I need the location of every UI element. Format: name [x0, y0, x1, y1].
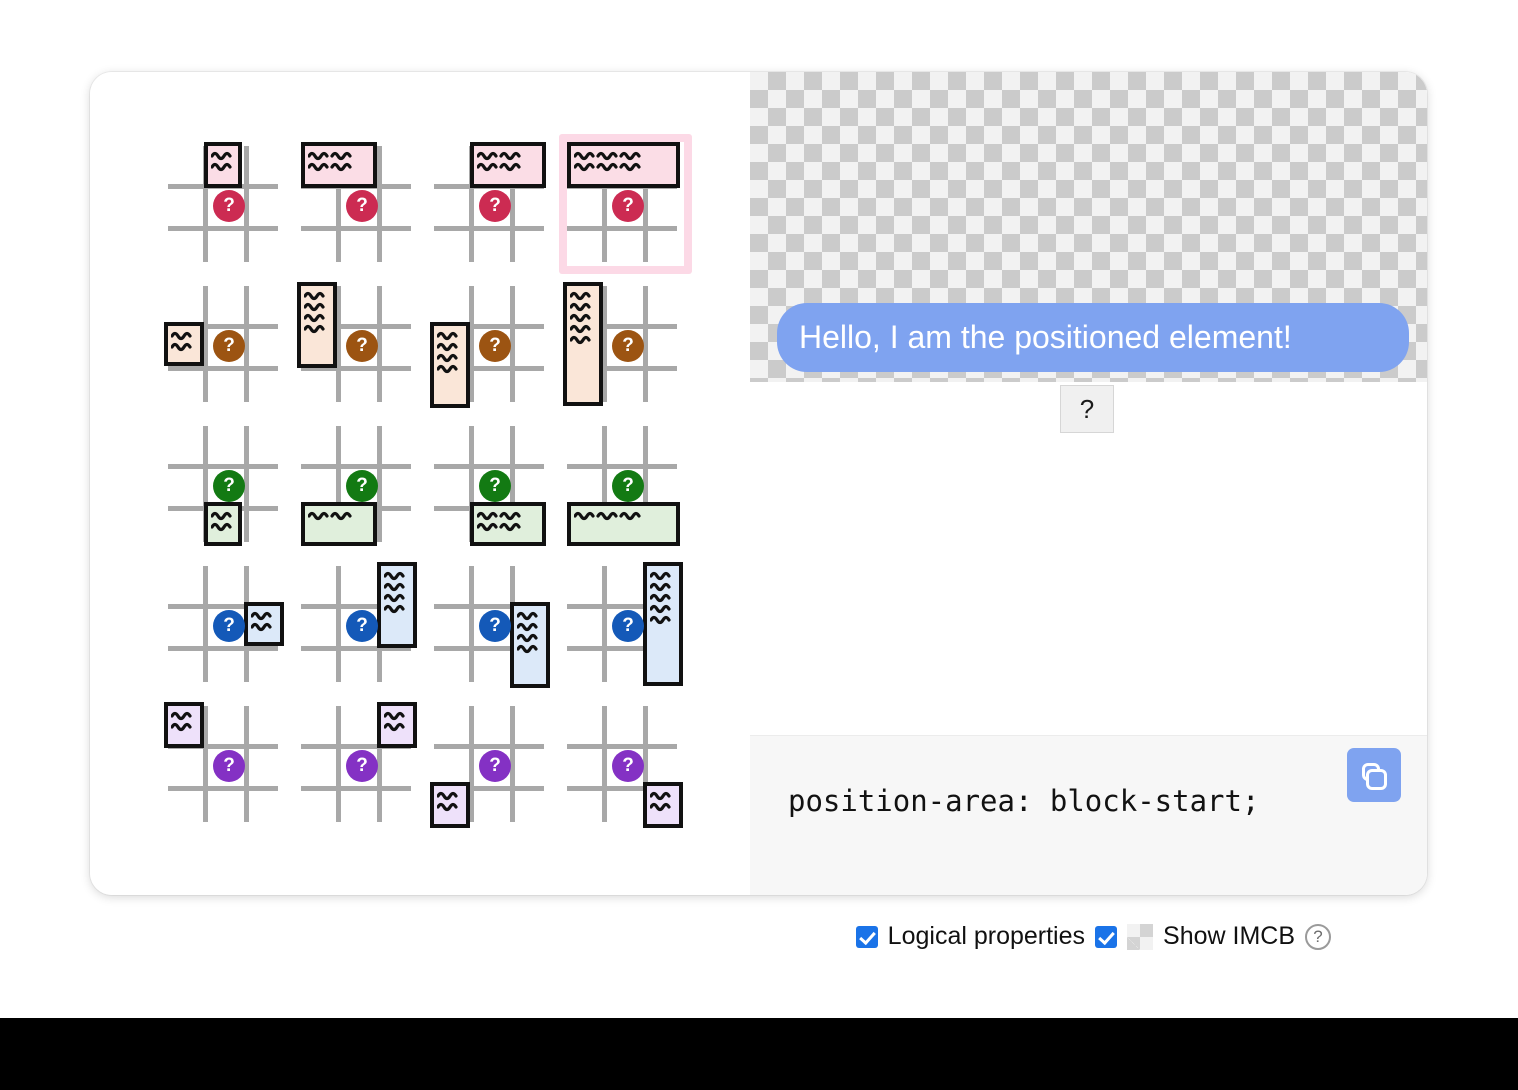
squiggle-line: [570, 312, 596, 323]
squiggle-line: [308, 161, 370, 172]
squiggle-line: [211, 150, 235, 161]
picker-cell[interactable]: ?: [426, 134, 559, 274]
positioned-box: [301, 142, 377, 188]
anchor-bubble: ?: [612, 330, 644, 362]
anchor-bubble: ?: [213, 330, 245, 362]
picker-cell[interactable]: ?: [160, 694, 293, 834]
anchor-bubble: ?: [479, 750, 511, 782]
anchor-bubble: ?: [346, 190, 378, 222]
squiggle-line: [308, 150, 370, 161]
picker-cell-inner: ?: [567, 702, 684, 826]
picker-cell-inner: ?: [168, 562, 285, 686]
positioned-box: [643, 782, 683, 828]
picker-cell-inner: ?: [168, 422, 285, 546]
anchor-bubble: ?: [346, 330, 378, 362]
picker-cell[interactable]: ?: [559, 134, 692, 274]
picker-cell[interactable]: ?: [293, 414, 426, 554]
squiggle-line: [517, 643, 543, 654]
picker-cell-inner: ?: [301, 282, 418, 406]
help-icon[interactable]: ?: [1305, 924, 1331, 950]
positioned-box: [430, 782, 470, 828]
anchor-bubble: ?: [612, 190, 644, 222]
squiggle-line: [304, 312, 330, 323]
squiggle-line: [574, 161, 673, 172]
positioned-box: [430, 322, 470, 408]
position-area-picker: ????????????????????: [90, 72, 750, 895]
squiggle-line: [477, 161, 539, 172]
positioned-box: [510, 602, 550, 688]
squiggle-line: [574, 510, 673, 521]
squiggle-line: [171, 710, 197, 721]
code-declaration: position-area: block-start;: [788, 784, 1259, 818]
picker-cell[interactable]: ?: [293, 694, 426, 834]
picker-cell-inner: ?: [434, 702, 551, 826]
positioned-box: [470, 502, 546, 546]
picker-cell-inner: ?: [567, 142, 684, 266]
squiggle-line: [304, 301, 330, 312]
copy-icon: [1359, 760, 1389, 790]
positioned-box: [204, 502, 242, 546]
squiggle-line: [251, 610, 277, 621]
picker-cell[interactable]: ?: [160, 554, 293, 694]
squiggle-line: [304, 290, 330, 301]
picker-cell[interactable]: ?: [426, 694, 559, 834]
anchor-bubble: ?: [213, 470, 245, 502]
imcb-swatch-icon: [1127, 924, 1153, 950]
picker-cell-inner: ?: [301, 702, 418, 826]
positioned-box: [164, 322, 204, 366]
picker-cell-inner: ?: [567, 422, 684, 546]
picker-cell-inner: ?: [434, 142, 551, 266]
picker-cell[interactable]: ?: [426, 554, 559, 694]
squiggle-line: [437, 341, 463, 352]
picker-cell[interactable]: ?: [559, 414, 692, 554]
squiggle-line: [650, 570, 676, 581]
squiggle-line: [384, 592, 410, 603]
show-imcb-label: Show IMCB: [1163, 922, 1295, 951]
logical-properties-label: Logical properties: [888, 922, 1085, 951]
squiggle-line: [384, 721, 410, 732]
picker-cell[interactable]: ?: [559, 274, 692, 414]
positioned-box: [643, 562, 683, 686]
squiggle-line: [384, 570, 410, 581]
squiggle-line: [171, 721, 197, 732]
picker-cell-inner: ?: [434, 282, 551, 406]
anchor-bubble: ?: [346, 470, 378, 502]
copy-button[interactable]: [1347, 748, 1401, 802]
squiggle-line: [570, 334, 596, 345]
squiggle-line: [650, 592, 676, 603]
picker-cell-inner: ?: [434, 422, 551, 546]
picker-cell[interactable]: ?: [293, 274, 426, 414]
squiggle-line: [570, 290, 596, 301]
picker-cell[interactable]: ?: [426, 414, 559, 554]
squiggle-line: [477, 150, 539, 161]
anchor-bubble: ?: [213, 750, 245, 782]
positioned-box: [567, 502, 680, 546]
squiggle-line: [437, 801, 463, 812]
picker-cell[interactable]: ?: [160, 134, 293, 274]
positioned-box: [301, 502, 377, 546]
positioned-box: [567, 142, 680, 188]
anchor-bubble: ?: [612, 750, 644, 782]
squiggle-line: [251, 621, 277, 632]
anchor-bubble: ?: [346, 610, 378, 642]
logical-properties-checkbox[interactable]: [856, 926, 878, 948]
picker-grid[interactable]: ????????????????????: [160, 134, 692, 834]
bottom-bar: [0, 1018, 1518, 1090]
positioned-element: Hello, I am the positioned element!: [777, 303, 1409, 372]
preview-spacer: [750, 382, 1427, 735]
anchor-bubble: ?: [213, 610, 245, 642]
picker-cell-inner: ?: [168, 142, 285, 266]
squiggle-line: [574, 150, 673, 161]
anchor-bubble: ?: [346, 750, 378, 782]
picker-cell[interactable]: ?: [160, 274, 293, 414]
anchor-bubble: ?: [612, 470, 644, 502]
picker-cell-inner: ?: [301, 422, 418, 546]
picker-cell-inner: ?: [567, 282, 684, 406]
squiggle-line: [171, 341, 197, 352]
squiggle-line: [308, 510, 370, 521]
squiggle-line: [171, 330, 197, 341]
squiggle-line: [211, 161, 235, 172]
anchor-bubble: ?: [213, 190, 245, 222]
picker-cell[interactable]: ?: [559, 694, 692, 834]
squiggle-line: [437, 790, 463, 801]
squiggle-line: [650, 801, 676, 812]
squiggle-line: [570, 323, 596, 334]
squiggle-line: [650, 790, 676, 801]
squiggle-line: [437, 330, 463, 341]
squiggle-line: [650, 603, 676, 614]
code-panel: position-area: block-start;: [750, 735, 1427, 895]
anchor-element-chip[interactable]: ?: [1060, 385, 1114, 433]
squiggle-line: [384, 603, 410, 614]
picker-cell[interactable]: ?: [559, 554, 692, 694]
anchor-bubble: ?: [479, 470, 511, 502]
squiggle-line: [211, 521, 235, 532]
picker-cell[interactable]: ?: [293, 554, 426, 694]
anchor-bubble: ?: [479, 330, 511, 362]
imcb-checkerboard: Hello, I am the positioned element!: [750, 72, 1427, 382]
positioned-box: [244, 602, 284, 646]
anchor-bubble: ?: [479, 610, 511, 642]
squiggle-line: [570, 301, 596, 312]
picker-cell-inner: ?: [301, 142, 418, 266]
picker-cell-inner: ?: [301, 562, 418, 686]
footer-controls: Logical properties Show IMCB ?: [0, 922, 1427, 951]
squiggle-line: [477, 521, 539, 532]
anchor-bubble: ?: [479, 190, 511, 222]
picker-cell[interactable]: ?: [293, 134, 426, 274]
positioned-box: [470, 142, 546, 188]
squiggle-line: [517, 632, 543, 643]
show-imcb-control[interactable]: Show IMCB: [1095, 922, 1295, 951]
picker-cell-inner: ?: [168, 282, 285, 406]
picker-cell-inner: ?: [168, 702, 285, 826]
positioned-box: [377, 702, 417, 748]
squiggle-line: [437, 363, 463, 374]
anchor-bubble: ?: [612, 610, 644, 642]
squiggle-line: [211, 510, 235, 521]
positioned-box: [164, 702, 204, 748]
positioned-box: [563, 282, 603, 406]
squiggle-line: [384, 710, 410, 721]
picker-cell-inner: ?: [434, 562, 551, 686]
logical-properties-control[interactable]: Logical properties: [856, 922, 1085, 951]
positioned-box: [204, 142, 242, 188]
squiggle-line: [517, 610, 543, 621]
picker-cell-inner: ?: [567, 562, 684, 686]
preview-column: Hello, I am the positioned element! ? po…: [750, 72, 1427, 895]
page-root: ???????????????????? Hello, I am the pos…: [0, 0, 1518, 1090]
squiggle-line: [304, 323, 330, 334]
show-imcb-checkbox[interactable]: [1095, 926, 1117, 948]
squiggle-line: [517, 621, 543, 632]
squiggle-line: [384, 581, 410, 592]
positioned-box: [377, 562, 417, 648]
picker-cell[interactable]: ?: [426, 274, 559, 414]
squiggle-line: [477, 510, 539, 521]
picker-cell[interactable]: ?: [160, 414, 293, 554]
squiggle-line: [437, 352, 463, 363]
visualizer-card: ???????????????????? Hello, I am the pos…: [90, 72, 1427, 895]
positioned-box: [297, 282, 337, 368]
squiggle-line: [650, 614, 676, 625]
squiggle-line: [650, 581, 676, 592]
